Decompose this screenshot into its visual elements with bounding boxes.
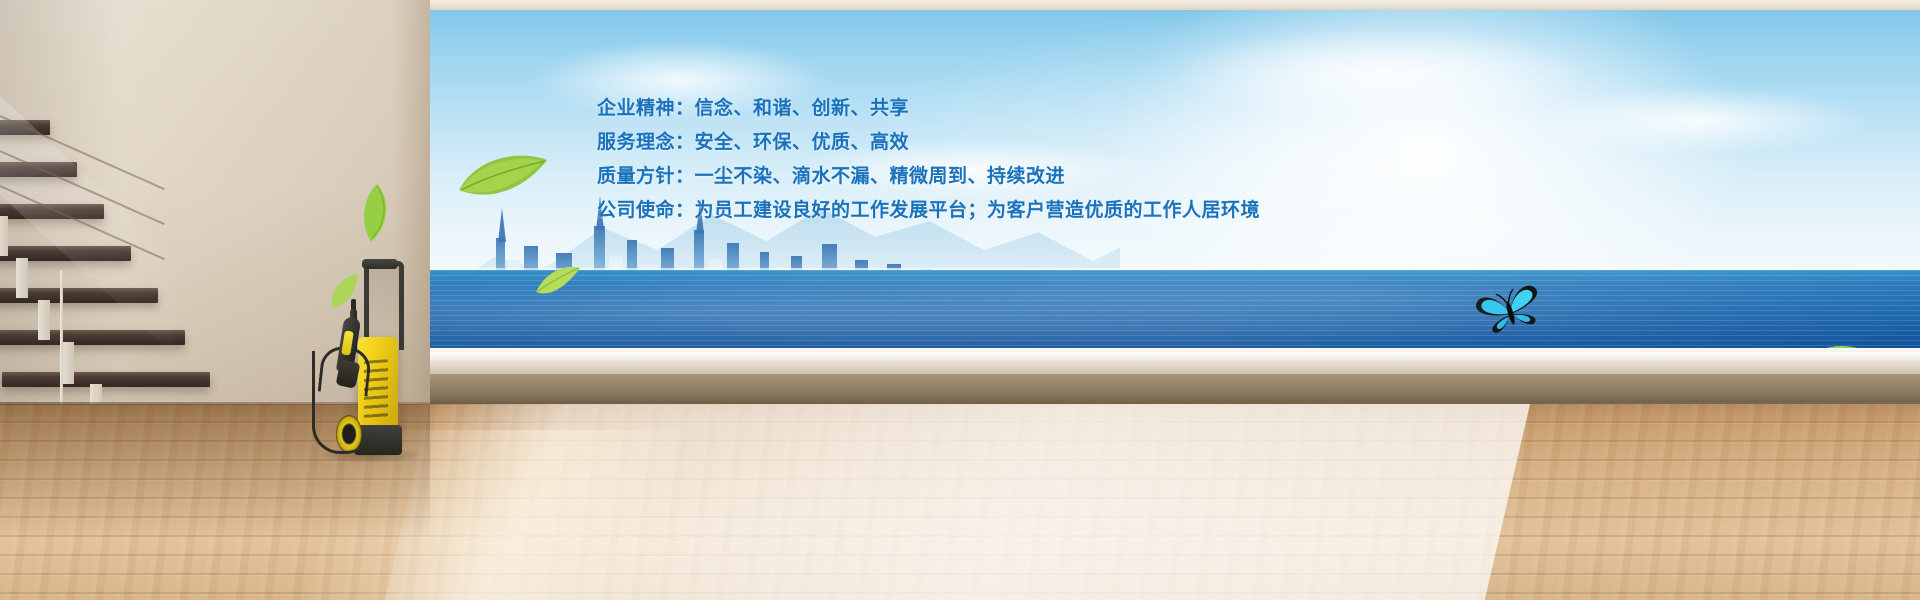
slogan-line-quality: 质量方针：一尘不染、滴水不漏、精微周到、持续改进 — [597, 160, 1357, 194]
leaf-icon — [355, 182, 395, 244]
stair-support — [16, 258, 28, 298]
washer-handle-grip — [362, 259, 398, 269]
stair-support — [38, 300, 50, 340]
leaf-icon — [455, 150, 551, 210]
baseboard — [410, 374, 1920, 404]
window-frame-top — [410, 0, 1920, 10]
stair-tread — [2, 372, 210, 387]
stair-support — [0, 216, 8, 256]
slogan-block: 企业精神：信念、和谐、创新、共享 服务理念：安全、环保、优质、高效 质量方针：一… — [597, 92, 1357, 228]
window-sill-highlight — [410, 352, 1920, 360]
slogan-line-spirit: 企业精神：信念、和谐、创新、共享 — [597, 92, 1357, 126]
slogan-line-mission: 公司使命：为员工建设良好的工作发展平台；为客户营造优质的工作人居环境 — [597, 194, 1357, 228]
slogan-line-service: 服务理念：安全、环保、优质、高效 — [597, 126, 1357, 160]
pressure-washer — [312, 255, 422, 460]
butterfly-icon — [1475, 282, 1545, 345]
skyline-spire — [498, 208, 506, 242]
stair-support — [62, 342, 74, 384]
washer-spray-gun — [332, 317, 368, 381]
cloud — [1530, 86, 1870, 156]
leaf-icon — [534, 262, 582, 302]
company-culture-banner: 企业精神：信念、和谐、创新、共享 服务理念：安全、环保、优质、高效 质量方针：一… — [0, 0, 1920, 600]
